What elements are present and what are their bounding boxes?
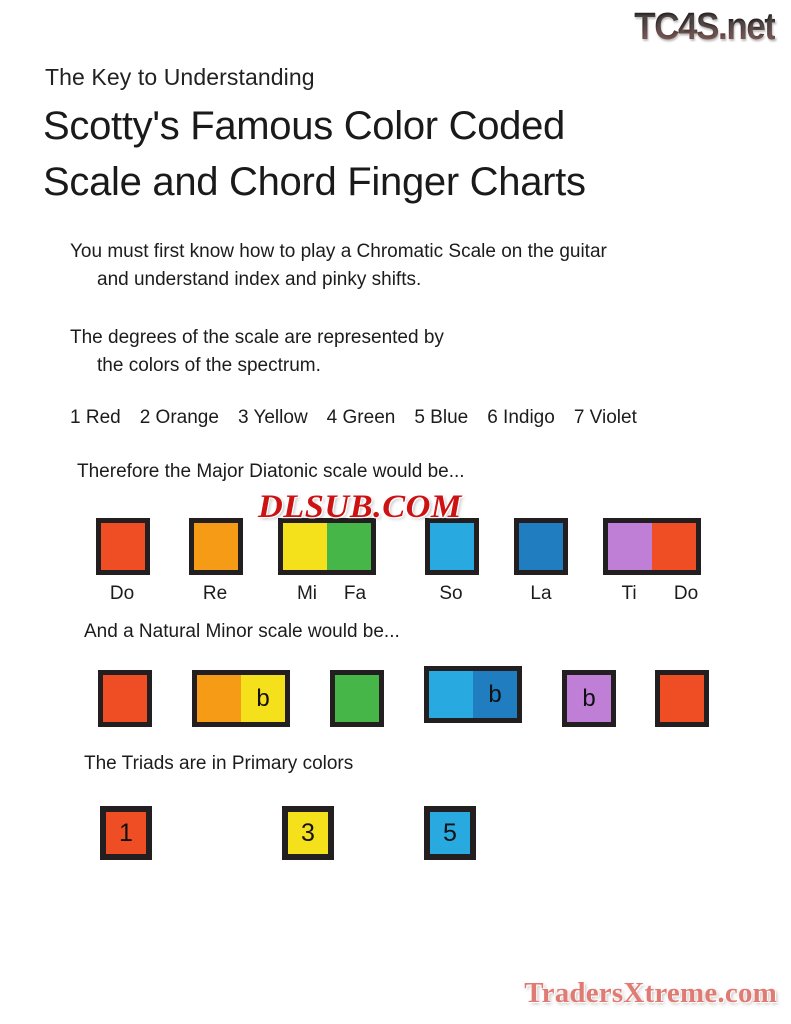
spectrum-degree-6: 6 Indigo <box>487 407 555 428</box>
intro-paragraph: You must first know how to play a Chroma… <box>70 238 770 294</box>
triad-degree-label: 5 <box>430 812 470 854</box>
color-cell <box>430 523 474 570</box>
minor-scale-caption: And a Natural Minor scale would be... <box>84 621 400 643</box>
solfege-label-so-4: So <box>429 583 473 605</box>
spectrum-degree-legend: 1 Red2 Orange3 Yellow4 Green5 Blue6 Indi… <box>70 407 637 429</box>
solfege-label-fa-3: Fa <box>333 583 377 605</box>
solfege-label-la-5: La <box>519 583 563 605</box>
solfege-label-do-0: Do <box>100 583 144 605</box>
spectrum-degree-7: 7 Violet <box>574 407 637 428</box>
intro-paragraph-line-2: and understand index and pinky shifts. <box>70 266 770 294</box>
major-scale-group <box>514 518 568 575</box>
minor-scale-group: b <box>192 670 290 727</box>
color-cell <box>608 523 652 570</box>
solfege-label-ti-6: Ti <box>607 583 651 605</box>
flat-marked-color-cell: b <box>567 675 611 722</box>
tradersxtreme-watermark: TradersXtreme.com <box>524 977 777 1010</box>
color-cell <box>660 675 704 722</box>
solfege-label-re-1: Re <box>193 583 237 605</box>
color-cell <box>429 671 473 718</box>
spectrum-degree-3: 3 Yellow <box>238 407 308 428</box>
site-logo: TC4S.net <box>635 6 775 49</box>
color-cell <box>519 523 563 570</box>
color-cell <box>103 675 147 722</box>
color-cell <box>283 523 327 570</box>
dlsub-watermark: DLSUB.COM <box>258 489 462 526</box>
color-cell <box>101 523 145 570</box>
spectrum-degree-2: 2 Orange <box>140 407 219 428</box>
triad-square-3: 3 <box>282 806 334 860</box>
triads-caption: The Triads are in Primary colors <box>84 753 353 775</box>
triad-degree-label: 1 <box>106 812 146 854</box>
triad-degree-label: 3 <box>288 812 328 854</box>
spectrum-degree-5: 5 Blue <box>414 407 468 428</box>
spectrum-paragraph: The degrees of the scale are represented… <box>70 324 770 380</box>
solfege-label-do-7: Do <box>664 583 708 605</box>
flat-marked-color-cell: b <box>473 671 517 718</box>
triad-square-5: 5 <box>424 806 476 860</box>
kicker-text: The Key to Understanding <box>45 64 315 91</box>
color-cell <box>197 675 241 722</box>
major-scale-group <box>425 518 479 575</box>
spectrum-degree-1: 1 Red <box>70 407 121 428</box>
page-title-line-2: Scale and Chord Finger Charts <box>43 160 586 205</box>
triad-square-1: 1 <box>100 806 152 860</box>
color-cell <box>327 523 371 570</box>
spectrum-paragraph-line-2: the colors of the spectrum. <box>70 352 770 380</box>
spectrum-degree-4: 4 Green <box>327 407 396 428</box>
major-scale-group <box>603 518 701 575</box>
major-scale-caption: Therefore the Major Diatonic scale would… <box>77 461 465 483</box>
minor-scale-group: b <box>424 666 522 723</box>
minor-scale-group: b <box>562 670 616 727</box>
solfege-label-mi-2: Mi <box>285 583 329 605</box>
minor-scale-group <box>655 670 709 727</box>
minor-scale-group <box>330 670 384 727</box>
minor-scale-group <box>98 670 152 727</box>
major-scale-group <box>189 518 243 575</box>
spectrum-paragraph-line-1: The degrees of the scale are represented… <box>70 327 444 348</box>
major-scale-group <box>96 518 150 575</box>
color-cell <box>194 523 238 570</box>
flat-marked-color-cell: b <box>241 675 285 722</box>
intro-paragraph-line-1: You must first know how to play a Chroma… <box>70 241 607 262</box>
page-title-line-1: Scotty's Famous Color Coded <box>43 104 565 149</box>
color-cell <box>335 675 379 722</box>
major-scale-group <box>278 518 376 575</box>
color-cell <box>652 523 696 570</box>
